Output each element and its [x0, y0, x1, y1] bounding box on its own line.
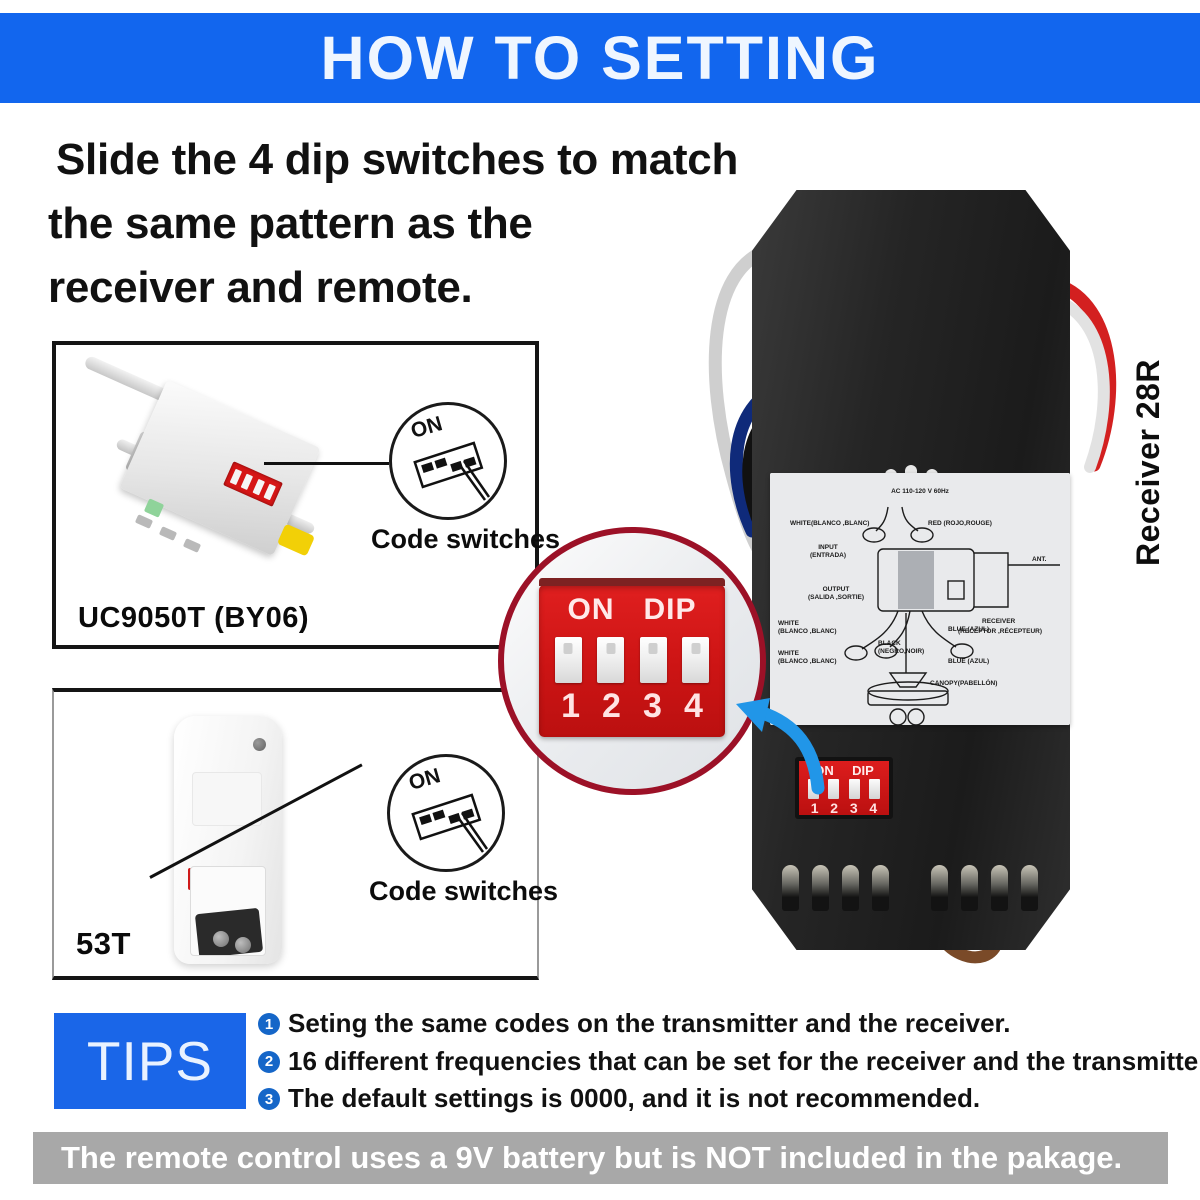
- panel-uc9050t: ON Code switches UC9050T (BY06): [52, 341, 539, 649]
- receiver-28r-photo: AC 110-120 V 60Hz WHITE(BLANCO ,BLANC) R…: [690, 175, 1140, 995]
- tips-badge-label: TIPS: [87, 1029, 213, 1093]
- tips-list: 1 Seting the same codes on the transmitt…: [258, 1007, 1188, 1120]
- page-title: HOW TO SETTING: [321, 28, 880, 89]
- svg-text:CANOPY(PABELLÓN): CANOPY(PABELLÓN): [930, 678, 997, 687]
- footer-text: The remote control uses a 9V battery but…: [61, 1140, 1122, 1176]
- magnified-dip-numbers: 1 2 3 4: [539, 687, 725, 726]
- remote-battery-compartment: [190, 866, 266, 956]
- uc9050t-port-3: [183, 538, 201, 553]
- uc9050t-code-switch-callout: ON Code switches: [389, 402, 507, 520]
- tips-badge: TIPS: [54, 1013, 246, 1109]
- tip-number-icon: 2: [258, 1051, 280, 1073]
- receiver-dip-number-3: 3: [850, 800, 858, 816]
- tip-text: Seting the same codes on the transmitter…: [288, 1007, 1010, 1040]
- header-banner: HOW TO SETTING: [0, 13, 1200, 103]
- dip-number-2: 2: [602, 687, 621, 726]
- svg-text:(BLANCO ,BLANC): (BLANCO ,BLANC): [778, 628, 837, 635]
- panel-label-uc9050t: UC9050T (BY06): [78, 602, 309, 635]
- svg-text:OUTPUT: OUTPUT: [823, 586, 850, 593]
- magnified-dip-switch[interactable]: ON DIP 1 2 3 4: [539, 585, 725, 737]
- dip-slider-1[interactable]: [555, 637, 582, 683]
- dip-switch-line-icon: [389, 402, 507, 520]
- blue-pointer-arrow: [726, 676, 836, 796]
- remote-53t-photo: [174, 716, 282, 964]
- svg-text:WHITE(BLANCO ,BLANC): WHITE(BLANCO ,BLANC): [790, 520, 869, 527]
- svg-text:RED (ROJO,ROUGE): RED (ROJO,ROUGE): [928, 520, 992, 527]
- tip-text: The default settings is 0000, and it is …: [288, 1082, 980, 1115]
- dip-slider-2[interactable]: [597, 637, 624, 683]
- tip-number-icon: 1: [258, 1013, 280, 1035]
- receiver-28r-label: Receiver 28R: [1130, 359, 1167, 566]
- svg-text:(BLANCO ,BLANC): (BLANCO ,BLANC): [778, 658, 837, 665]
- battery-9v: [195, 908, 263, 956]
- receiver-dip-dip-label: DIP: [852, 763, 874, 778]
- tip-number-icon: 3: [258, 1088, 280, 1110]
- svg-text:BLUE (AZUL): BLUE (AZUL): [948, 658, 989, 665]
- svg-text:AC 110-120 V 60Hz: AC 110-120 V 60Hz: [891, 488, 950, 495]
- svg-text:RECEIVER: RECEIVER: [982, 618, 1016, 625]
- svg-text:ANT.: ANT.: [1032, 556, 1047, 563]
- magnified-dip-top-edge: [539, 578, 725, 586]
- receiver-dip-number-1: 1: [811, 800, 819, 816]
- battery-terminal-1: [213, 931, 229, 947]
- svg-text:(ENTRADA): (ENTRADA): [810, 552, 846, 559]
- svg-text:WHITE: WHITE: [778, 620, 800, 627]
- tip-item: 2 16 different frequencies that can be s…: [258, 1045, 1188, 1078]
- remote-front-panel: [192, 772, 262, 826]
- tip-item: 3 The default settings is 0000, and it i…: [258, 1082, 1188, 1115]
- svg-text:(NEGRO,NOIR): (NEGRO,NOIR): [878, 648, 924, 655]
- tip-text: 16 different frequencies that can be set…: [288, 1045, 1200, 1078]
- dip-switch-line-icon: [387, 754, 505, 872]
- magnified-dip-head: ON DIP: [539, 593, 725, 627]
- svg-text:WHITE: WHITE: [778, 650, 800, 657]
- uc9050t-port-1: [135, 514, 153, 529]
- callout-text: Code switches: [371, 524, 531, 555]
- magnified-dip-on-label: ON: [567, 593, 614, 627]
- svg-text:BLACK: BLACK: [878, 640, 901, 647]
- receiver-dip-number-4: 4: [869, 800, 877, 816]
- magnified-dip-sliders[interactable]: [539, 637, 725, 683]
- receiver-bottom-vents: [782, 865, 1038, 911]
- dip-number-1: 1: [561, 687, 580, 726]
- footer-bar: The remote control uses a 9V battery but…: [33, 1132, 1168, 1184]
- dip-number-3: 3: [643, 687, 662, 726]
- remote-53t-code-switch-callout: ON Code switches: [387, 754, 505, 872]
- panel-53t: ON Code switches 53T: [52, 688, 539, 980]
- uc9050t-lead-line: [264, 462, 389, 465]
- dip-slider-4[interactable]: [682, 637, 709, 683]
- svg-text:(RECEPTOR ,RÉCEPTEUR): (RECEPTOR ,RÉCEPTEUR): [958, 626, 1042, 635]
- magnified-dip-dip-label: DIP: [643, 593, 696, 627]
- panel-label-53t: 53T: [76, 926, 131, 962]
- dip-number-4: 4: [684, 687, 703, 726]
- dip-slider-3[interactable]: [640, 637, 667, 683]
- callout-text: Code switches: [369, 876, 529, 907]
- battery-terminal-2: [235, 937, 251, 953]
- svg-text:(SALIDA ,SORTIE): (SALIDA ,SORTIE): [808, 594, 864, 601]
- receiver-dip-numbers: 1 2 3 4: [799, 800, 889, 816]
- uc9050t-port-2: [159, 526, 177, 541]
- remote-screw: [253, 738, 266, 751]
- tip-item: 1 Seting the same codes on the transmitt…: [258, 1007, 1188, 1040]
- svg-text:INPUT: INPUT: [818, 544, 838, 551]
- uc9050t-device-photo: [74, 371, 374, 601]
- receiver-dip-number-2: 2: [830, 800, 838, 816]
